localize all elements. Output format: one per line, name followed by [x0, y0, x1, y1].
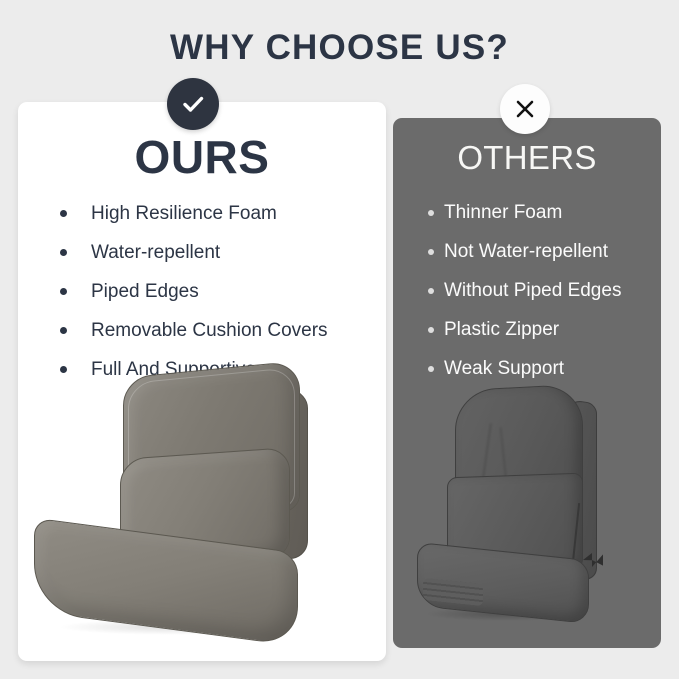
list-item: Not Water-repellent	[428, 232, 658, 271]
close-badge	[500, 84, 550, 134]
list-item: High Resilience Foam	[50, 194, 380, 233]
ours-heading: OURS	[18, 130, 386, 184]
ours-product-image	[28, 367, 376, 657]
others-panel: OTHERS Thinner Foam Not Water-repellent …	[393, 118, 661, 648]
bullet-dot-icon	[428, 327, 434, 333]
bullet-dot-icon	[428, 249, 434, 255]
close-icon	[513, 97, 537, 121]
list-item-label: Without Piped Edges	[444, 280, 621, 302]
list-item-label: Piped Edges	[91, 281, 199, 303]
list-item: Without Piped Edges	[428, 271, 658, 310]
bullet-dot-icon	[428, 366, 434, 372]
page-title: WHY CHOOSE US?	[0, 28, 679, 68]
list-item: Piped Edges	[50, 272, 380, 311]
others-heading: OTHERS	[393, 139, 661, 177]
list-item: Removable Cushion Covers	[50, 311, 380, 350]
bullet-dot-icon	[428, 288, 434, 294]
list-item-label: Thinner Foam	[444, 202, 562, 224]
list-item-label: Removable Cushion Covers	[91, 320, 328, 342]
list-item-label: Plastic Zipper	[444, 319, 559, 341]
others-product-image	[415, 383, 639, 633]
check-badge	[167, 78, 219, 130]
list-item-label: Not Water-repellent	[444, 241, 608, 263]
list-item: Thinner Foam	[428, 193, 658, 232]
bullet-dot-icon	[60, 249, 67, 256]
list-item: Plastic Zipper	[428, 310, 658, 349]
bullet-dot-icon	[60, 327, 67, 334]
list-item-label: Weak Support	[444, 358, 564, 380]
bullet-dot-icon	[428, 210, 434, 216]
ours-panel: OURS High Resilience Foam Water-repellen…	[18, 102, 386, 661]
others-feature-list: Thinner Foam Not Water-repellent Without…	[428, 193, 658, 388]
bullet-dot-icon	[60, 288, 67, 295]
list-item: Water-repellent	[50, 233, 380, 272]
comparison-infographic: WHY CHOOSE US? OURS High Resilience Foam…	[0, 0, 679, 679]
ours-feature-list: High Resilience Foam Water-repellent Pip…	[50, 194, 380, 389]
bullet-dot-icon	[60, 210, 67, 217]
check-icon	[179, 90, 207, 118]
list-item-label: Water-repellent	[91, 242, 220, 264]
list-item-label: High Resilience Foam	[91, 203, 277, 225]
